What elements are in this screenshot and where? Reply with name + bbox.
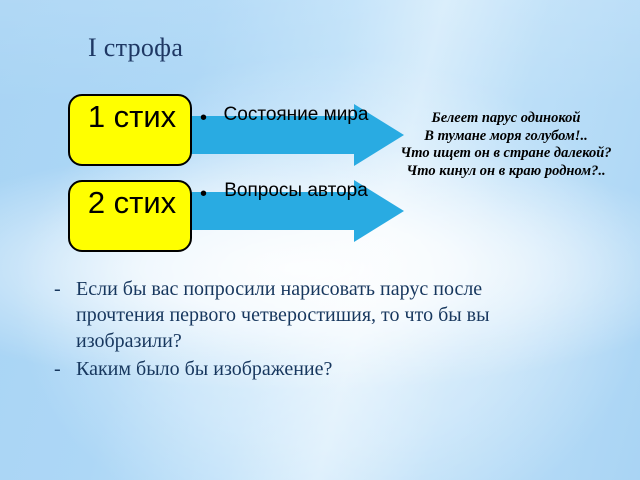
bullet-icon: • [200, 184, 207, 204]
verse-box-1: 1 стих [68, 94, 192, 166]
list-item: - Каким было бы изображение? [54, 356, 554, 382]
slide-canvas: I строфа • Состояние мира • Вопросы авто… [0, 0, 640, 480]
question-list: - Если бы вас попросили нарисовать парус… [54, 276, 554, 384]
slide-title: I строфа [88, 33, 183, 63]
verse-box-1-label: 1 стих [70, 98, 194, 136]
poem-line: Что ищет он в стране далекой? [400, 145, 612, 163]
poem-line: Что кинул он в краю родном?.. [400, 163, 612, 181]
list-item: - Если бы вас попросили нарисовать парус… [54, 276, 554, 354]
arrow-1-label: Состояние мира [200, 102, 378, 127]
arrow-shape-2: • Вопросы автора [186, 180, 404, 242]
arrow-1-label-group: • Состояние мира [200, 102, 378, 127]
poem-text: Белеет парус одинокой В тумане моря голу… [400, 110, 612, 180]
poem-line: Белеет парус одинокой [400, 110, 612, 128]
question-text: Каким было бы изображение? [76, 358, 332, 380]
dash-bullet-icon: - [54, 356, 61, 382]
arrow-2-label: Вопросы автора [200, 178, 378, 203]
poem-line: В тумане моря голубом!.. [400, 128, 612, 146]
bullet-icon: • [200, 108, 207, 128]
verse-box-2-label: 2 стих [70, 184, 194, 222]
arrow-2-label-group: • Вопросы автора [200, 178, 378, 203]
dash-bullet-icon: - [54, 276, 61, 302]
arrow-shape-1: • Состояние мира [186, 104, 404, 166]
verse-box-2: 2 стих [68, 180, 192, 252]
question-text: Если бы вас попросили нарисовать парус п… [76, 278, 490, 352]
